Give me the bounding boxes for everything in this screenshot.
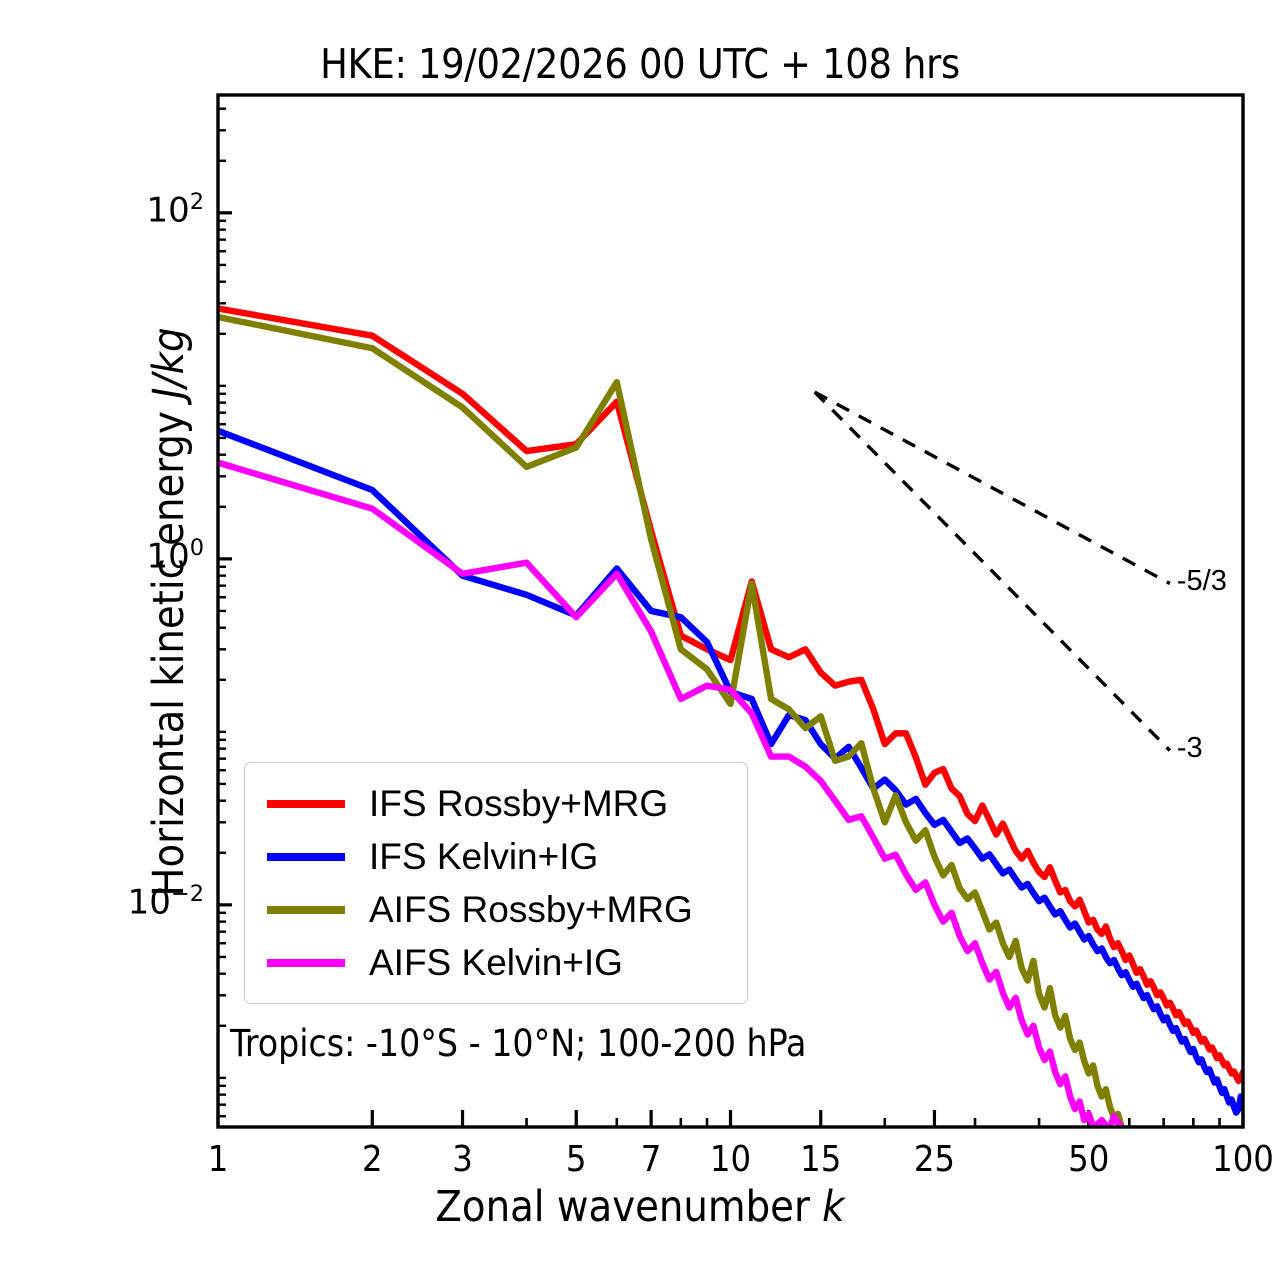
legend: IFS Rossby+MRG IFS Kelvin+IG AIFS Rossby…: [244, 762, 748, 1004]
x-axis-label: Zonal wavenumber k: [0, 1182, 1280, 1232]
legend-swatch-aifs-rossby-mrg: [267, 906, 345, 914]
x-tick-label: 100: [1183, 1139, 1280, 1180]
legend-label-ifs-rossby-mrg: IFS Rossby+MRG: [369, 783, 668, 825]
y-tick-label: 100: [44, 535, 204, 576]
x-axis-label-symbol: k: [822, 1182, 844, 1232]
y-axis-label-units: J/kg: [144, 327, 194, 398]
x-axis-label-text: Zonal wavenumber: [435, 1182, 822, 1232]
x-tick-label: 25: [874, 1139, 994, 1180]
legend-swatch-ifs-rossby-mrg: [267, 800, 345, 808]
legend-swatch-ifs-kelvin-ig: [267, 853, 345, 861]
chart-figure: HKE: 19/02/2026 00 UTC + 108 hrs Horizon…: [0, 0, 1280, 1288]
reference-slope-line--5-3: [815, 392, 1170, 583]
x-tick-label: 3: [403, 1139, 523, 1180]
slope-label--5-3: -5/3: [1177, 565, 1227, 598]
legend-label-aifs-rossby-mrg: AIFS Rossby+MRG: [369, 889, 693, 931]
y-axis-label-text: Horizontal kinetic energy: [144, 399, 194, 897]
x-tick-label: 1: [158, 1139, 278, 1180]
x-tick-label: 15: [761, 1139, 881, 1180]
series-line-aifs-rossby-mrg: [218, 317, 1122, 1127]
legend-item-aifs-rossby-mrg[interactable]: AIFS Rossby+MRG: [245, 883, 747, 936]
legend-item-aifs-kelvin-ig[interactable]: AIFS Kelvin+IG: [245, 936, 747, 989]
y-axis-label: Horizontal kinetic energy J/kg: [144, 112, 194, 1112]
legend-swatch-aifs-kelvin-ig: [267, 959, 345, 967]
legend-item-ifs-kelvin-ig[interactable]: IFS Kelvin+IG: [245, 830, 747, 883]
slope-label--3: -3: [1177, 732, 1203, 765]
y-tick-label: 10−2: [44, 881, 204, 922]
x-tick-label: 50: [1029, 1139, 1149, 1180]
legend-item-ifs-rossby-mrg[interactable]: IFS Rossby+MRG: [245, 777, 747, 830]
legend-label-ifs-kelvin-ig: IFS Kelvin+IG: [369, 836, 598, 878]
region-annotation: Tropics: -10°S - 10°N; 100-200 hPa: [230, 1022, 806, 1065]
legend-label-aifs-kelvin-ig: AIFS Kelvin+IG: [369, 942, 623, 984]
y-tick-label: 102: [44, 189, 204, 230]
